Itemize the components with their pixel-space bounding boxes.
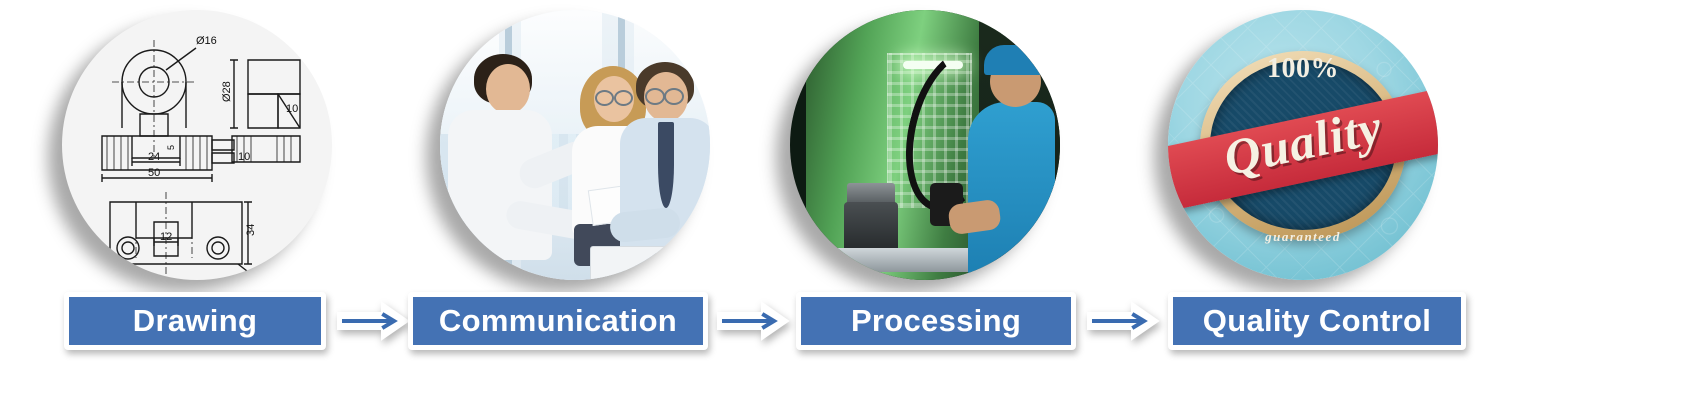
right-arrow-icon <box>336 301 410 341</box>
dim-10-b: 10 <box>238 151 250 163</box>
dim-d16: Ø16 <box>196 35 217 47</box>
step-label-processing[interactable]: Processing <box>796 292 1076 350</box>
right-arrow-icon <box>1086 301 1160 341</box>
arrow-communication-to-processing <box>716 301 790 341</box>
step-label-processing-text: Processing <box>801 297 1071 345</box>
technical-drawing-circle: Ø16 Ø28 24 50 5 10 10 12 34 R8 <box>62 10 332 280</box>
right-arrow-icon <box>716 301 790 341</box>
step-image-processing[interactable] <box>790 10 1060 280</box>
dim-d28: Ø28 <box>221 81 233 102</box>
dim-5: 5 <box>166 145 176 150</box>
cnc-machine-circle <box>790 10 1060 280</box>
step-images-row: Ø16 Ø28 24 50 5 10 10 12 34 R8 <box>0 0 1692 290</box>
step-image-communication[interactable] <box>440 10 710 280</box>
step-label-quality-control-text: Quality Control <box>1173 297 1461 345</box>
step-label-communication-text: Communication <box>413 297 703 345</box>
arrow-processing-to-quality-control <box>1086 301 1160 341</box>
step-label-quality-control[interactable]: Quality Control <box>1168 292 1466 350</box>
step-label-communication[interactable]: Communication <box>408 292 708 350</box>
dim-10-a: 10 <box>286 103 298 115</box>
step-labels-row: Drawing Communication Processing <box>0 292 1692 364</box>
dim-34: 34 <box>245 224 257 236</box>
dim-r8: R8 <box>254 275 268 280</box>
process-flow-diagram: Ø16 Ø28 24 50 5 10 10 12 34 R8 <box>0 0 1692 410</box>
dim-24: 24 <box>148 151 160 163</box>
business-meeting-circle <box>440 10 710 280</box>
dim-50: 50 <box>148 167 160 179</box>
quality-badge-circle: 100% Quality guaranteed <box>1168 10 1438 280</box>
step-image-drawing[interactable]: Ø16 Ø28 24 50 5 10 10 12 34 R8 <box>62 10 332 280</box>
operator-cap <box>984 45 1046 75</box>
technical-drawing-svg: Ø16 Ø28 24 50 5 10 10 12 34 R8 <box>62 10 332 280</box>
step-label-drawing-text: Drawing <box>69 297 321 345</box>
step-image-quality-control[interactable]: 100% Quality guaranteed <box>1168 10 1438 280</box>
arrow-drawing-to-communication <box>336 301 410 341</box>
dim-12: 12 <box>160 231 172 243</box>
laptop <box>590 246 670 280</box>
step-label-drawing[interactable]: Drawing <box>64 292 326 350</box>
badge-percent: 100% <box>1168 53 1438 85</box>
badge-subtitle: guaranteed <box>1168 229 1438 245</box>
chuck <box>844 202 898 253</box>
operator-body <box>968 102 1054 280</box>
